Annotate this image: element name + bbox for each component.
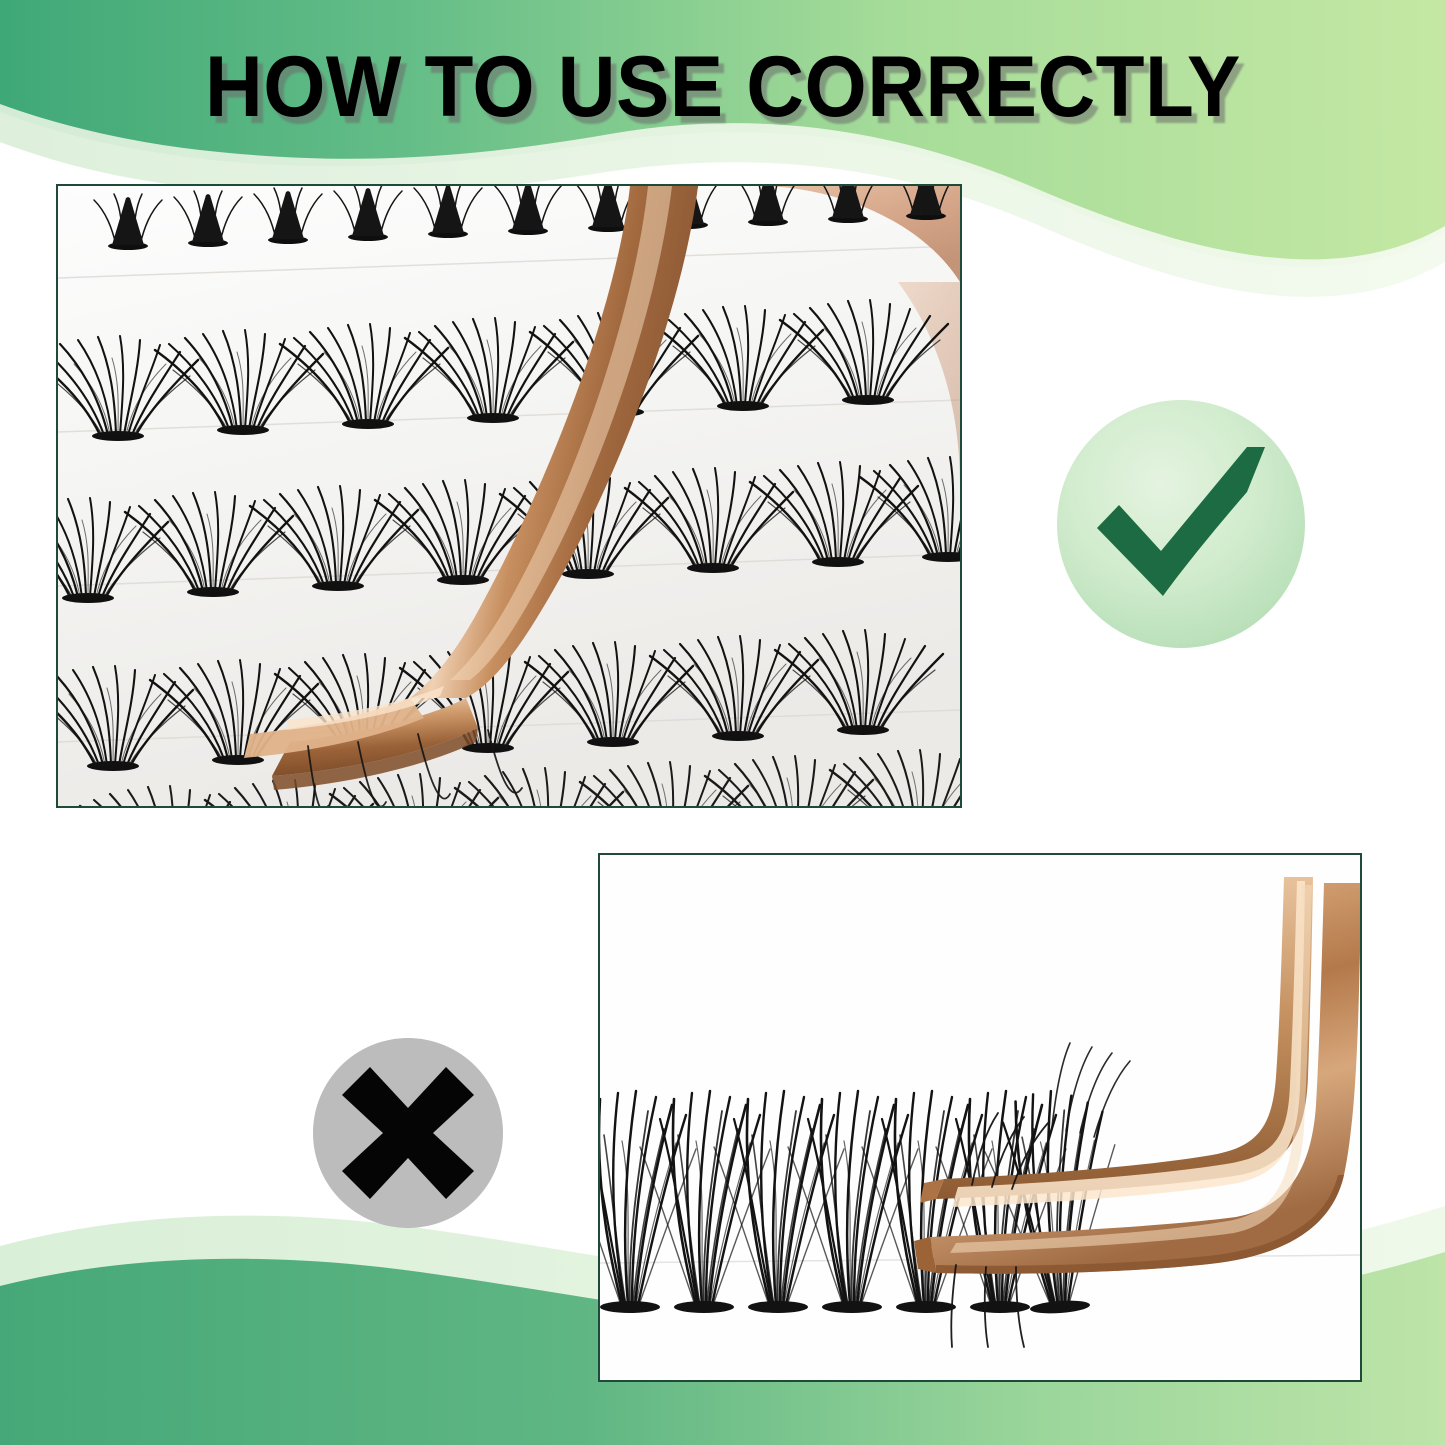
correct-usage-illustration — [58, 186, 960, 806]
correct-status-badge — [1057, 400, 1305, 648]
page-title-text: HOW TO USE CORRECTLY — [205, 44, 1241, 132]
correct-usage-photo — [56, 184, 962, 808]
instructional-infographic: HOW TO USE CORRECTLY — [0, 0, 1445, 1445]
cross-icon — [313, 1038, 503, 1228]
check-icon — [1057, 400, 1305, 648]
incorrect-status-badge — [313, 1038, 503, 1228]
incorrect-usage-photo — [598, 853, 1362, 1382]
incorrect-usage-illustration — [600, 855, 1360, 1380]
page-title: HOW TO USE CORRECTLY — [0, 44, 1445, 132]
